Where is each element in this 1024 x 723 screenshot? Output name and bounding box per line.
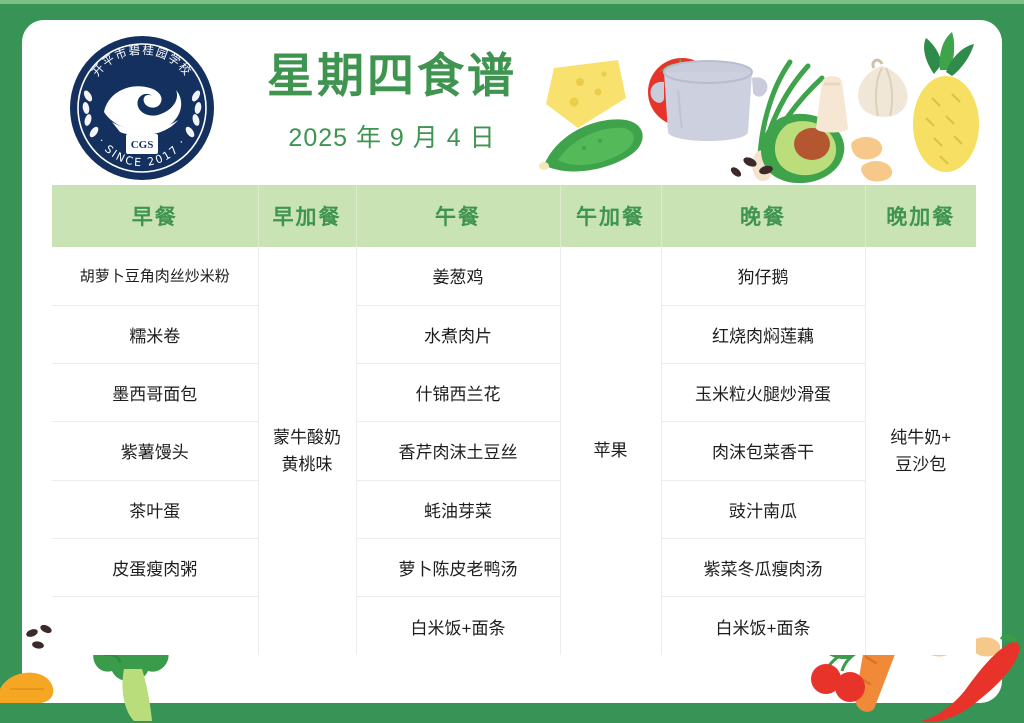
menu-date: 2025 年 9 月 4 日	[237, 118, 547, 154]
evening-snack-line2: 豆沙包	[870, 451, 973, 478]
page-title: 星期四食谱	[237, 50, 547, 104]
afternoon-snack-cell: 苹果	[560, 247, 661, 655]
table-row: 墨西哥面包 什锦西兰花 玉米粒火腿炒滑蛋	[52, 364, 976, 422]
top-accent-line	[0, 0, 1024, 4]
cashew-icon	[851, 137, 892, 182]
menu-table-wrap: 早餐 早加餐 午餐 午加餐 晚餐 晚加餐 胡萝卜豆角肉丝炒米粉 蒙牛酸奶 黄桃味…	[52, 185, 976, 655]
morning-snack-line1: 蒙牛酸奶	[263, 424, 352, 451]
school-logo: CGS 开平市碧桂园学校 · SINCE 2017 ·	[68, 34, 216, 182]
morning-snack-cell: 蒙牛酸奶 黄桃味	[258, 247, 356, 655]
svg-text:CGS: CGS	[131, 139, 154, 151]
table-row: 茶叶蛋 蚝油芽菜 豉汁南瓜	[52, 480, 976, 538]
cooking-pot-icon	[650, 61, 767, 141]
dinner-item: 玉米粒火腿炒滑蛋	[661, 364, 865, 422]
seeds-icon	[25, 623, 53, 649]
cheese-icon	[546, 60, 626, 128]
lunch-item: 水煮肉片	[356, 305, 560, 363]
poster-header: CGS 开平市碧桂园学校 · SINCE 2017 · 星期四食谱 2025 年…	[22, 20, 1002, 185]
dinner-item: 豉汁南瓜	[661, 480, 865, 538]
column-header-morning-snack: 早加餐	[258, 185, 356, 247]
column-header-afternoon-snack: 午加餐	[560, 185, 661, 247]
lunch-item: 白米饭+面条	[356, 597, 560, 655]
pineapple-icon	[913, 32, 979, 172]
garlic-icon	[858, 60, 908, 117]
column-header-dinner: 晚餐	[661, 185, 865, 247]
dinner-item: 白米饭+面条	[661, 597, 865, 655]
table-row: 胡萝卜豆角肉丝炒米粉 蒙牛酸奶 黄桃味 姜葱鸡 苹果 狗仔鹅 纯牛奶+ 豆沙包	[52, 247, 976, 305]
breakfast-item: 紫薯馒头	[52, 422, 258, 480]
citrus-juicer-icon	[0, 673, 53, 703]
breakfast-item: 茶叶蛋	[52, 480, 258, 538]
lunch-item: 蚝油芽菜	[356, 480, 560, 538]
table-row: 糯米卷 水煮肉片 红烧肉焖莲藕	[52, 305, 976, 363]
afternoon-snack-line1: 苹果	[565, 437, 657, 464]
breakfast-item: 皮蛋瘦肉粥	[52, 538, 258, 596]
dinner-item: 红烧肉焖莲藕	[661, 305, 865, 363]
salt-shaker-icon	[816, 76, 848, 133]
table-row: 白米饭+面条 白米饭+面条	[52, 597, 976, 655]
column-header-breakfast: 早餐	[52, 185, 258, 247]
header-food-illustrations	[522, 20, 1002, 185]
menu-poster: CGS 开平市碧桂园学校 · SINCE 2017 · 星期四食谱 2025 年…	[0, 0, 1024, 723]
dinner-item: 狗仔鹅	[661, 247, 865, 305]
table-row: 紫薯馒头 香芹肉沫土豆丝 肉沫包菜香干	[52, 422, 976, 480]
dinner-item: 紫菜冬瓜瘦肉汤	[661, 538, 865, 596]
title-block: 星期四食谱 2025 年 9 月 4 日	[237, 50, 547, 154]
lunch-item: 姜葱鸡	[356, 247, 560, 305]
lunch-item: 萝卜陈皮老鸭汤	[356, 538, 560, 596]
lunch-item: 什锦西兰花	[356, 364, 560, 422]
evening-snack-cell: 纯牛奶+ 豆沙包	[865, 247, 976, 655]
morning-snack-line2: 黄桃味	[263, 451, 352, 478]
lunch-item: 香芹肉沫土豆丝	[356, 422, 560, 480]
table-header-row: 早餐 早加餐 午餐 午加餐 晚餐 晚加餐	[52, 185, 976, 247]
column-header-lunch: 午餐	[356, 185, 560, 247]
breakfast-item	[52, 597, 258, 655]
breakfast-item: 墨西哥面包	[52, 364, 258, 422]
table-row: 皮蛋瘦肉粥 萝卜陈皮老鸭汤 紫菜冬瓜瘦肉汤	[52, 538, 976, 596]
cucumber-icon	[539, 119, 643, 171]
dinner-item: 肉沫包菜香干	[661, 422, 865, 480]
menu-table: 早餐 早加餐 午餐 午加餐 晚餐 晚加餐 胡萝卜豆角肉丝炒米粉 蒙牛酸奶 黄桃味…	[52, 185, 976, 655]
evening-snack-line1: 纯牛奶+	[870, 424, 973, 451]
breakfast-item: 胡萝卜豆角肉丝炒米粉	[52, 247, 258, 305]
breakfast-item: 糯米卷	[52, 305, 258, 363]
column-header-evening-snack: 晚加餐	[865, 185, 976, 247]
